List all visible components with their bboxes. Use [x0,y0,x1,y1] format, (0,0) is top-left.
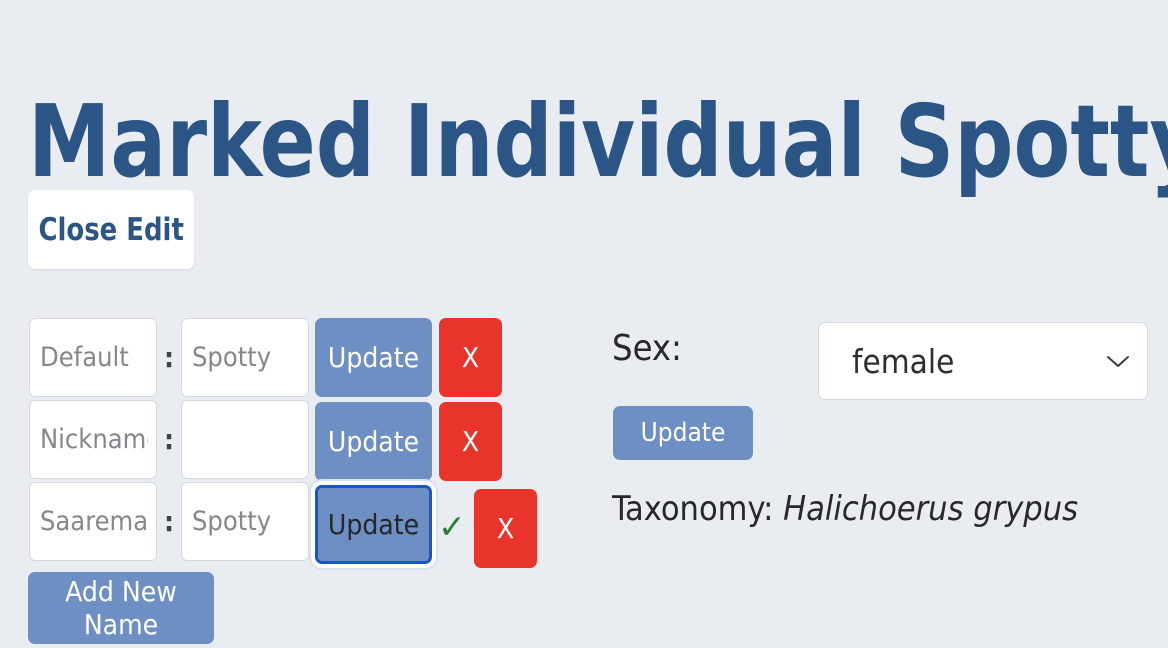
page-title: Marked Individual Spotty [28,83,1168,201]
update-sex-button[interactable]: Update [613,406,753,460]
name-row: : Update X [0,318,502,402]
name-key-input[interactable] [29,482,157,561]
name-separator: : [157,400,181,479]
sex-select[interactable]: female [818,322,1148,400]
taxonomy-line: Taxonomy: Halichoerus grypus [612,489,1078,529]
name-value-input[interactable] [181,400,309,479]
delete-name-button[interactable]: X [474,489,537,568]
name-value-input[interactable] [181,318,309,397]
taxonomy-label: Taxonomy: [612,489,773,529]
sex-select-wrapper: female [818,322,1148,400]
check-icon: ✓ [437,485,467,564]
delete-name-button[interactable]: X [439,318,502,397]
update-name-button[interactable]: Update [315,485,432,564]
name-value-input[interactable] [181,482,309,561]
sex-label: Sex: [612,328,682,369]
close-edit-label: Close Edit [38,212,183,248]
update-name-button[interactable]: Update [315,402,432,481]
add-new-name-button[interactable]: Add New Name [28,572,214,644]
name-row: : Update ✓ X [0,482,537,566]
name-separator: : [157,318,181,397]
name-key-input[interactable] [29,400,157,479]
close-edit-button[interactable]: Close Edit [28,190,194,269]
name-key-input[interactable] [29,318,157,397]
name-row: : Update X [0,400,502,484]
delete-name-button[interactable]: X [439,402,502,481]
update-name-button[interactable]: Update [315,318,432,397]
name-separator: : [157,482,181,561]
taxonomy-species: Halichoerus grypus [783,489,1078,529]
